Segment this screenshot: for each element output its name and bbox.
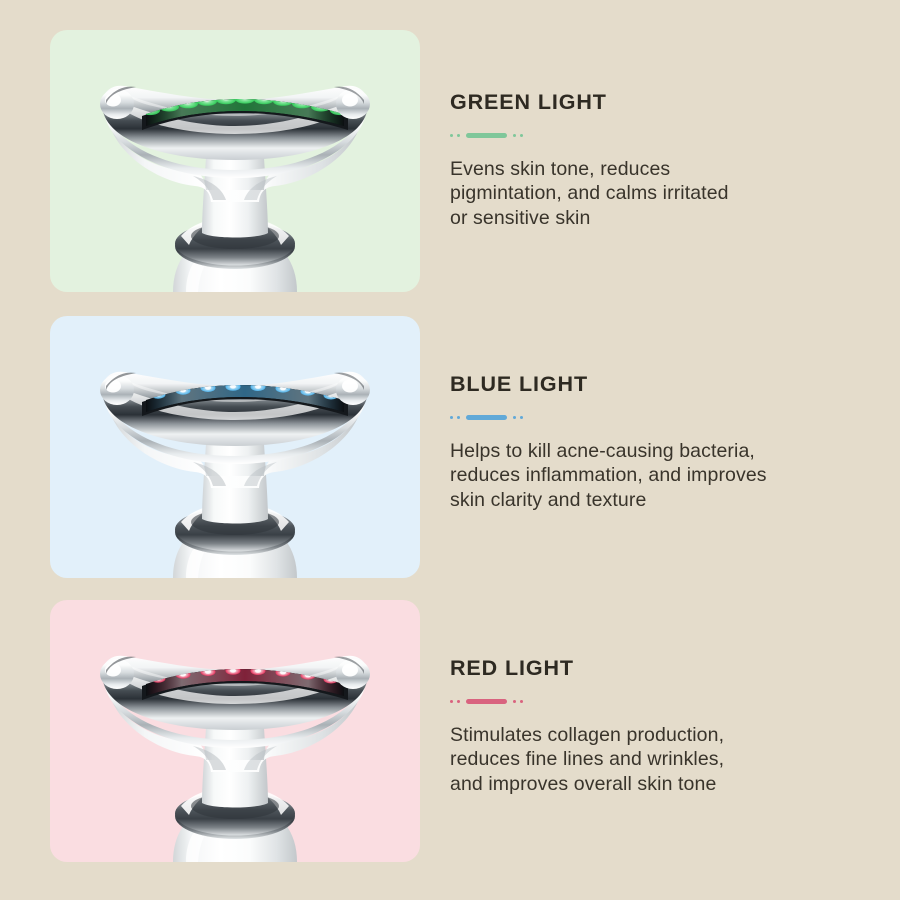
- section-red-light: RED LIGHT Stimulates collagen production…: [0, 600, 900, 862]
- divider-dot: [520, 134, 523, 137]
- description-line: skin clarity and texture: [450, 488, 870, 513]
- product-card-green: [50, 30, 420, 292]
- divider-bar: [466, 699, 507, 704]
- description-line: Stimulates collagen production,: [450, 723, 870, 748]
- description-line: Helps to kill acne-causing bacteria,: [450, 439, 870, 464]
- divider-dot: [450, 700, 453, 703]
- accent-divider: [450, 699, 870, 705]
- text-column-green: GREEN LIGHT Evens skin tone, reduces pig…: [450, 92, 870, 231]
- device-image-green: [50, 30, 420, 292]
- description-line: reduces fine lines and wrinkles,: [450, 747, 870, 772]
- text-column-blue: BLUE LIGHT Helps to kill acne-causing ba…: [450, 374, 870, 513]
- section-title: GREEN LIGHT: [450, 92, 870, 114]
- divider-dot: [513, 416, 516, 419]
- section-description: Stimulates collagen production, reduces …: [450, 723, 870, 797]
- description-line: or sensitive skin: [450, 206, 870, 231]
- divider-dot: [513, 700, 516, 703]
- section-description: Evens skin tone, reduces pigmintation, a…: [450, 157, 870, 231]
- divider-dot: [513, 134, 516, 137]
- infographic-page: GREEN LIGHT Evens skin tone, reduces pig…: [0, 0, 900, 900]
- divider-dot: [520, 700, 523, 703]
- divider-dot: [520, 416, 523, 419]
- section-green-light: GREEN LIGHT Evens skin tone, reduces pig…: [0, 30, 900, 292]
- divider-bar: [466, 133, 507, 138]
- accent-divider: [450, 133, 870, 139]
- divider-dot: [457, 134, 460, 137]
- divider-dot: [450, 416, 453, 419]
- divider-dot: [450, 134, 453, 137]
- device-image-red: [50, 600, 420, 862]
- product-card-red: [50, 600, 420, 862]
- section-title: RED LIGHT: [450, 658, 870, 680]
- description-line: Evens skin tone, reduces: [450, 157, 870, 182]
- section-title: BLUE LIGHT: [450, 374, 870, 396]
- description-line: and improves overall skin tone: [450, 772, 870, 797]
- accent-divider: [450, 415, 870, 421]
- text-column-red: RED LIGHT Stimulates collagen production…: [450, 658, 870, 797]
- product-card-blue: [50, 316, 420, 578]
- section-blue-light: BLUE LIGHT Helps to kill acne-causing ba…: [0, 316, 900, 578]
- divider-bar: [466, 415, 507, 420]
- device-image-blue: [50, 316, 420, 578]
- divider-dot: [457, 700, 460, 703]
- divider-dot: [457, 416, 460, 419]
- section-description: Helps to kill acne-causing bacteria, red…: [450, 439, 870, 513]
- description-line: pigmintation, and calms irritated: [450, 181, 870, 206]
- description-line: reduces inflammation, and improves: [450, 463, 870, 488]
